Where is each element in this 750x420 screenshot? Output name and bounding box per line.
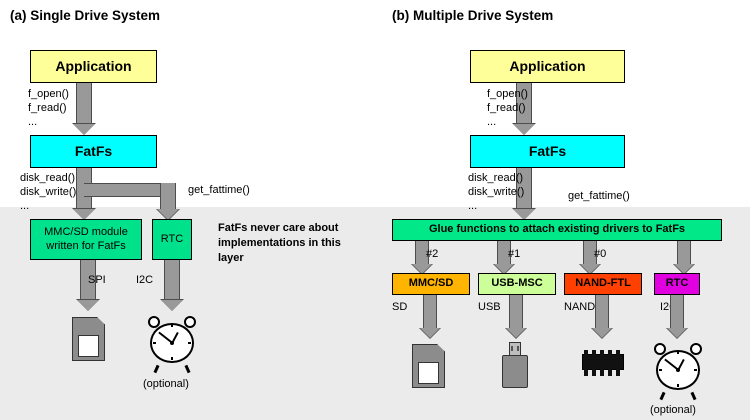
nand-chip-icon [578, 350, 628, 376]
left-get-fattime-label: get_fattime() [188, 184, 250, 198]
right-arrow-rtc-to-clock [665, 295, 689, 341]
sd-card-icon [412, 344, 445, 388]
right-glue-box: Glue functions to attach existing driver… [392, 219, 722, 241]
right-optional-label: (optional) [650, 404, 696, 418]
diagram-root: (a) Single Drive System Application f_op… [0, 0, 750, 420]
left-api-calls-label: f_open() f_read() ... [28, 88, 69, 129]
right-get-fattime-label: get_fattime() [568, 190, 630, 204]
right-arrow-nand-to-chip [590, 295, 614, 341]
right-arrow-mmc-to-sdcard [418, 295, 442, 341]
left-elbow-fatfs-to-rtc [84, 183, 180, 223]
left-i2c-label: I2C [136, 274, 153, 288]
right-fatfs-box: FatFs [470, 135, 625, 168]
right-application-box: Application [470, 50, 625, 83]
right-api-calls-label: f_open() f_read() ... [487, 88, 528, 129]
left-fatfs-box: FatFs [30, 135, 157, 168]
left-arrow-rtc-to-clock [160, 260, 184, 312]
left-rtc-box: RTC [152, 219, 192, 260]
driver-box-usb-msc: USB-MSC [478, 273, 556, 295]
drive-number-0: #0 [594, 248, 606, 262]
left-optional-label: (optional) [143, 378, 189, 392]
left-mmc-module-label: MMC/SD module written for FatFs [44, 226, 128, 252]
right-arrow-glue-to-rtc [672, 241, 696, 277]
left-panel-title: (a) Single Drive System [10, 8, 160, 23]
left-disk-calls-label: disk_read() disk_write() ... [20, 172, 76, 213]
bus-label-sd: SD [392, 301, 407, 315]
clock-icon [146, 316, 198, 368]
drive-number-1: #1 [508, 248, 520, 262]
driver-box-rtc: RTC [654, 273, 700, 295]
left-arrow-app-to-fatfs [72, 83, 96, 135]
right-panel-title: (b) Multiple Drive System [392, 8, 553, 23]
drive-number-2: #2 [426, 248, 438, 262]
left-application-box: Application [30, 50, 157, 83]
left-spi-label: SPI [88, 274, 106, 288]
driver-box-mmc-sd: MMC/SD [392, 273, 470, 295]
left-mmc-module-box: MMC/SD module written for FatFs [30, 219, 142, 260]
usb-drive-icon [502, 342, 528, 388]
sd-card-icon [72, 317, 105, 361]
left-note: FatFs never care about implementations i… [218, 221, 341, 266]
right-arrow-usb-to-drive [504, 295, 528, 341]
right-disk-calls-label: disk_read() disk_write() ... [468, 172, 524, 213]
clock-icon [652, 343, 704, 395]
bus-label-usb: USB [478, 301, 501, 315]
driver-box-nand-ftl: NAND-FTL [564, 273, 642, 295]
